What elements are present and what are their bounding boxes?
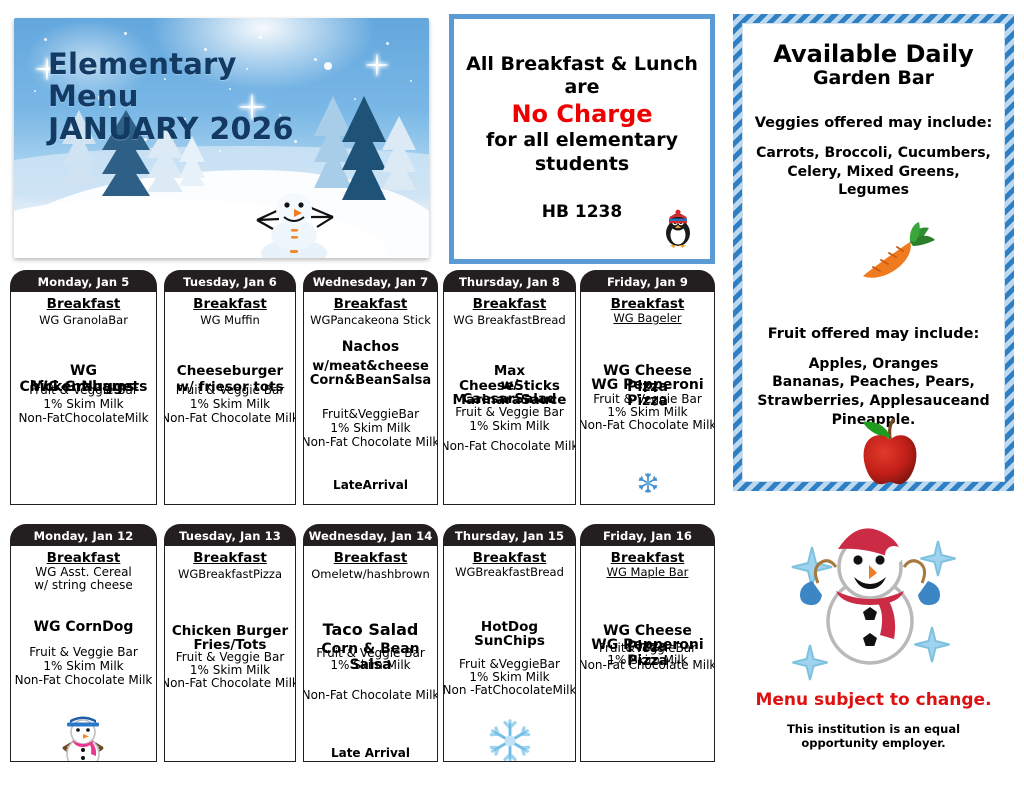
side-item: 1% Skim Milk [10,660,157,674]
day-header: Wednesday, Jan 7 [303,270,438,294]
veggies-line: Legumes [756,181,991,200]
breakfast-label: Breakfast [444,296,575,312]
entree-line: Cheeseburger [165,364,295,379]
side-item: Fruit & Veggie Bar [164,384,296,398]
breakfast-item: WG Maple Bar [581,566,714,579]
no-charge-line-3: for all elementary [486,129,678,152]
no-charge-line-2: are [564,76,599,99]
veggies-line: Celery, Mixed Greens, [756,163,991,182]
day-header: Friday, Jan 9 [580,270,715,294]
day-header: Thursday, Jan 8 [443,270,576,294]
side-item: Non-Fat Chocolate Milk [10,674,157,688]
veggies-list: Carrots, Broccoli, Cucumbers, Celery, Mi… [756,144,991,200]
entree-line: Taco Salad [304,621,437,639]
side-item: Non-Fat Chocolate Milk [580,659,715,673]
menu-day-cell[interactable]: Friday, Jan 9 Breakfast WG Bageler WG Ch… [580,270,715,505]
fruit-heading: Fruit offered may include: [768,326,980,342]
banner-title-block: Elementary Menu JANUARY 2026 [48,48,294,147]
side-item: Non-Fat Chocolate Milk [580,419,715,433]
no-charge-highlight: No Charge [511,99,652,129]
side-item: 1% Skim Milk [164,398,296,412]
entree-line: WG CornDog [11,620,156,636]
day-header: Thursday, Jan 15 [443,524,576,548]
breakfast-label: Breakfast [304,550,437,566]
side-item: Non-FatChocolateMilk [10,412,157,426]
breakfast-item: Omeletw/hashbrown [304,568,437,581]
no-charge-line-4: students [535,153,629,176]
banner-line-2: Menu [48,80,294,112]
breakfast-label: Breakfast [444,550,575,566]
breakfast-label: Breakfast [165,296,295,312]
bill-number: HB 1238 [542,202,622,222]
snowman-icon [239,173,349,258]
day-header: Monday, Jan 12 [10,524,157,548]
day-header: Wednesday, Jan 14 [303,524,438,548]
menu-day-cell[interactable]: Thursday, Jan 15 Breakfast WGBreakfastBr… [443,524,576,762]
breakfast-label: Breakfast [11,296,156,312]
side-item: 1% Skim Milk [303,422,438,436]
day-note: Late Arrival [304,746,437,760]
menu-day-cell[interactable]: Wednesday, Jan 14 Breakfast Omeletw/hash… [303,524,438,762]
penguin-icon [660,209,696,249]
entree-line: Corn&BeanSalsa [304,374,437,389]
breakfast-item: WG BreakfastBread [444,314,575,327]
breakfast-label: Breakfast [581,550,714,566]
garden-bar-title: Available Daily [773,40,973,68]
garden-bar-subtitle: Garden Bar [813,67,934,89]
side-item: 1% Skim Milk [443,420,576,434]
breakfast-label: Breakfast [304,296,437,312]
garden-bar-panel: Available Daily Garden Bar Veggies offer… [733,14,1014,491]
breakfast-item: WGBreakfastBread [444,566,575,579]
menu-day-cell[interactable]: Tuesday, Jan 13 Breakfast WGBreakfastPiz… [164,524,296,762]
breakfast-item: WGBreakfastPizza [165,568,295,581]
entree-line: Nachos [304,340,437,356]
banner-line-3: JANUARY 2026 [48,113,294,147]
entree-line: SunChips [444,634,575,649]
menu-day-cell[interactable]: Monday, Jan 5 Breakfast WG GranolaBar WG… [10,270,157,505]
breakfast-item: WGPancakeona Stick [304,314,437,327]
snowman-icon [51,704,115,762]
carrot-icon [855,220,937,282]
day-note: LateArrival [304,478,437,492]
fruit-line: Bananas, Peaches, Pears, [757,373,989,392]
menu-day-cell[interactable]: Tuesday, Jan 6 Breakfast WG Muffin Chees… [164,270,296,505]
menu-subject-to-change: Menu subject to change. [733,690,1014,710]
no-charge-line-1: All Breakfast & Lunch [466,53,698,76]
menu-day-cell[interactable]: Wednesday, Jan 7 Breakfast WGPancakeona … [303,270,438,505]
side-item: 1% Skim Milk [303,659,438,673]
equal-opportunity-statement: This institution is an equal opportunity… [733,722,1014,751]
menu-day-cell[interactable]: Thursday, Jan 8 Breakfast WG BreakfastBr… [443,270,576,505]
breakfast-item: WG Bageler [581,312,714,325]
breakfast-item: WG Asst. Cereal w/ string cheese [11,566,156,593]
side-item: Fruit & Veggie Bar [443,406,576,420]
snowflake-icon [637,472,659,494]
breakfast-item: WG Muffin [165,314,295,327]
santa-snowman-icon [770,515,970,690]
breakfast-label: Breakfast [581,296,714,312]
fruit-line: Apples, Oranges [757,355,989,374]
day-header: Tuesday, Jan 13 [164,524,296,548]
snowflake-icon [487,718,533,762]
side-item: Non-Fat Chocolate Milk [303,689,438,703]
side-item: Non -FatChocolateMilk [443,684,576,698]
banner-line-1: Elementary [48,48,294,80]
side-item: 1% Skim Milk [10,398,157,412]
apple-icon [855,416,925,488]
breakfast-label: Breakfast [165,550,295,566]
day-header: Tuesday, Jan 6 [164,270,296,294]
menu-header-banner: Elementary Menu JANUARY 2026 [14,18,429,258]
breakfast-item: WG GranolaBar [11,314,156,327]
side-item: Fruit&VeggieBar [303,408,438,422]
sparkle-icon [366,54,388,76]
side-item: Fruit & Veggie Bar [10,384,157,398]
side-item: Fruit & Veggie Bar [10,646,157,660]
side-item: Non-Fat Chocolate Milk [164,412,296,426]
menu-day-cell[interactable]: Friday, Jan 16 Breakfast WG Maple Bar WG… [580,524,715,762]
no-charge-notice: All Breakfast & Lunch are No Charge for … [449,14,715,264]
side-item: Non-Fat Chocolate Milk [303,436,438,450]
breakfast-label: Breakfast [11,550,156,566]
day-header: Friday, Jan 16 [580,524,715,548]
veggies-line: Carrots, Broccoli, Cucumbers, [756,144,991,163]
side-item: Non-Fat Chocolate Milk [164,677,296,691]
veggies-heading: Veggies offered may include: [755,115,993,131]
day-header: Monday, Jan 5 [10,270,157,294]
pine-tree-icon [382,116,416,190]
menu-day-cell[interactable]: Monday, Jan 12 Breakfast WG Asst. Cereal… [10,524,157,762]
fruit-line: Strawberries, Applesauceand [757,392,989,411]
side-item: Non-Fat Chocolate Milk [443,440,576,454]
